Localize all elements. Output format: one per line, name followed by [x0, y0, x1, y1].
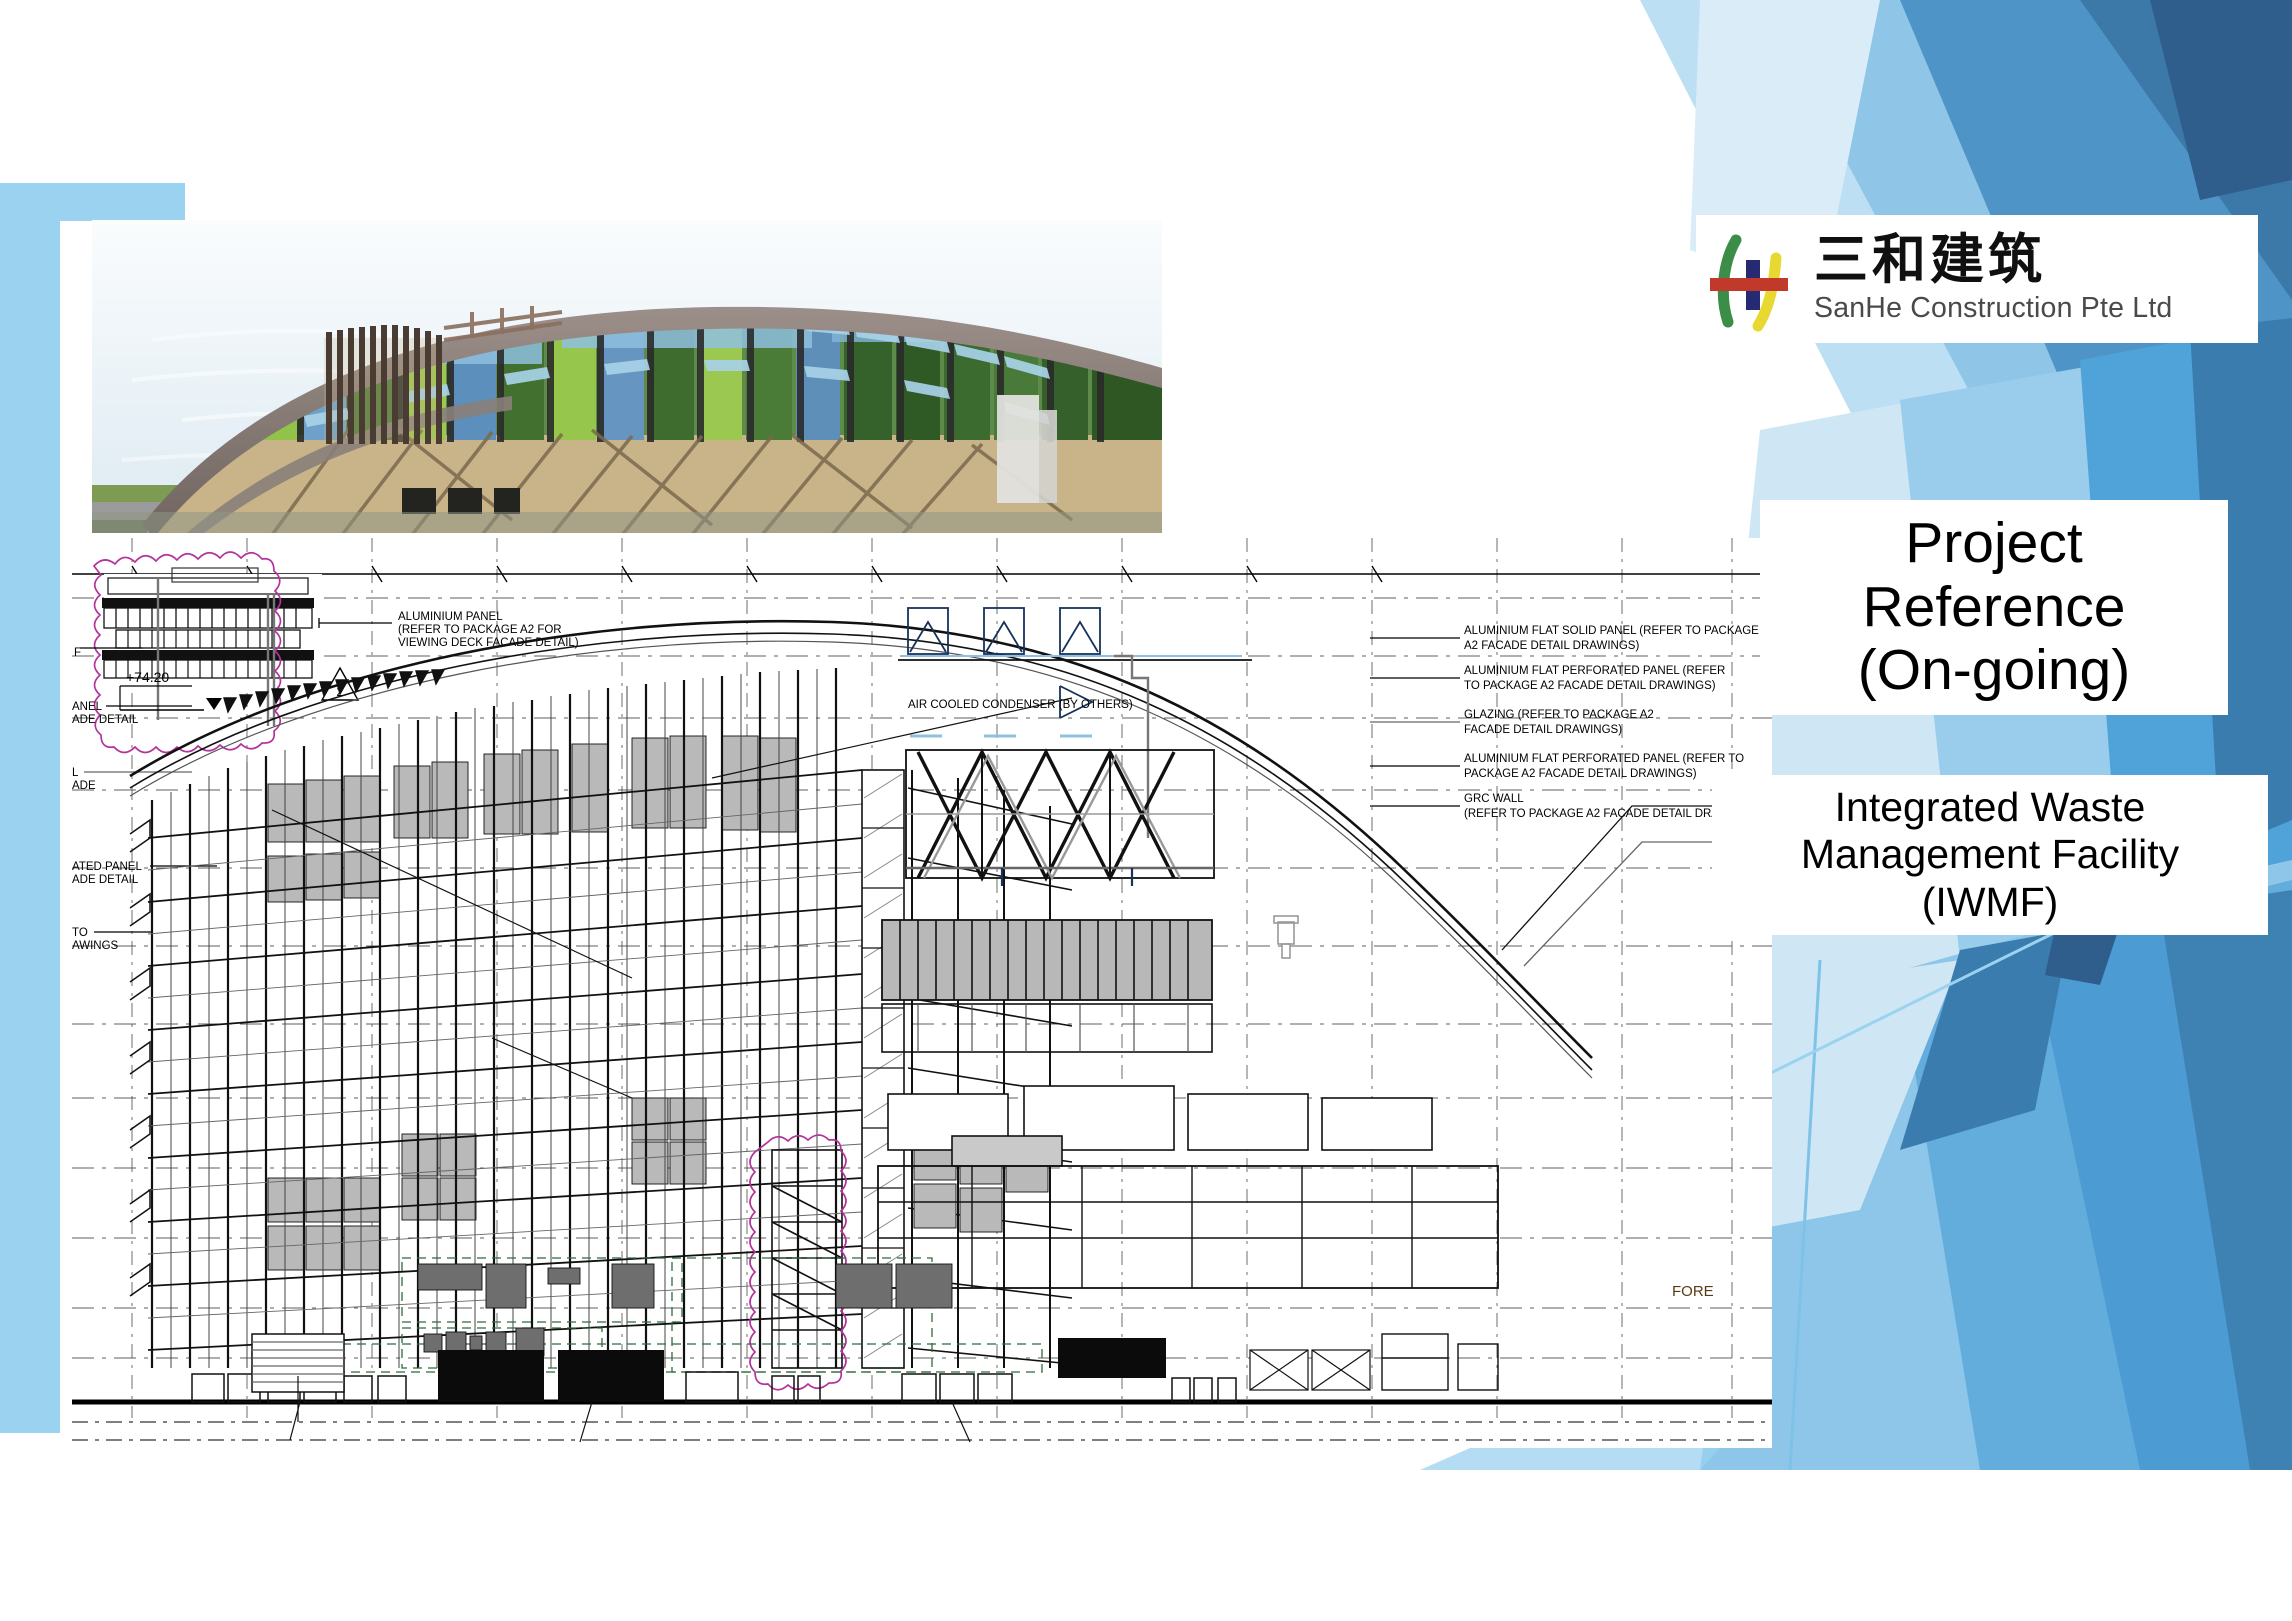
- facet-bottom-right-sliver: [1420, 1448, 1720, 1470]
- annotation-line: (REFER TO PACKAGE A2 FOR: [398, 624, 562, 636]
- svg-text:GRC WALL: GRC WALL: [1464, 793, 1524, 805]
- company-logo-card: 三和建筑 SanHe Construction Pte Ltd: [1696, 215, 2258, 343]
- svg-text:ALUMINIUM FLAT PERFORATED PAN: ALUMINIUM FLAT PERFORATED PANEL (REFER T…: [1464, 753, 1744, 765]
- facade-elevation-drawing: ALUMINIUM PANEL (REFER TO PACKAGE A2 FOR…: [72, 538, 1772, 1448]
- left-label-panel-2: ADE DETAIL: [72, 714, 139, 726]
- svg-text:A2 FACADE DETAIL DRAWINGS): A2 FACADE DETAIL DRAWINGS): [1464, 640, 1639, 652]
- left-label-to: TO: [72, 927, 88, 939]
- svg-text:ALUMINIUM FLAT SOLID PANEL (RE: ALUMINIUM FLAT SOLID PANEL (REFER TO PAC…: [1464, 625, 1759, 637]
- left-label-l-2: ADE: [72, 780, 96, 792]
- left-label-f: F: [74, 647, 81, 659]
- title-line-3: (On-going): [1858, 639, 2130, 703]
- annotation-clipped-fore: FORE: [1672, 1283, 1714, 1300]
- project-render-photo: [92, 220, 1162, 533]
- left-label-awings: AWINGS: [72, 940, 119, 952]
- sanhe-logo-icon: [1702, 224, 1810, 334]
- svg-text:ALUMINIUM FLAT PERFORATED PAN: ALUMINIUM FLAT PERFORATED PANEL (REFER: [1464, 665, 1725, 677]
- svg-text:FACADE DETAIL DRAWINGS): FACADE DETAIL DRAWINGS): [1464, 724, 1622, 736]
- left-label-ated-1: ATED PANEL: [72, 861, 142, 873]
- slide-title-card: Project Reference (On-going): [1760, 500, 2228, 715]
- left-label-ated-2: ADE DETAIL: [72, 874, 139, 886]
- left-label-l-1: L: [72, 767, 79, 779]
- svg-text:TO PACKAGE A2 FACADE DETAIL DR: TO PACKAGE A2 FACADE DETAIL DRAWINGS): [1464, 680, 1716, 692]
- logo-english-name: SanHe Construction Pte Ltd: [1814, 291, 2258, 327]
- facet-lower-right: [1700, 860, 2292, 1470]
- subtitle-line-2: Management Facility: [1801, 831, 2179, 879]
- annotation-acc-label: AIR COOLED CONDENSER (BY OTHERS): [908, 699, 1133, 711]
- subtitle-line-1: Integrated Waste: [1801, 784, 2179, 832]
- title-line-2: Reference: [1858, 576, 2130, 640]
- page-subtitle: Integrated Waste Management Facility (IW…: [1801, 784, 2179, 927]
- annotation-line: ALUMINIUM PANEL: [398, 611, 503, 623]
- presentation-slide: ALUMINIUM PANEL (REFER TO PACKAGE A2 FOR…: [0, 0, 2292, 1621]
- slide-subtitle-card: Integrated Waste Management Facility (IW…: [1712, 775, 2268, 935]
- left-label-panel-1: ANEL: [72, 701, 103, 713]
- svg-text:GLAZING (REFER TO PACKAGE A2: GLAZING (REFER TO PACKAGE A2: [1464, 709, 1654, 721]
- logo-chinese-name: 三和建筑: [1814, 232, 2258, 287]
- elevation-value: +74.20: [126, 669, 169, 685]
- subtitle-line-3: (IWMF): [1801, 879, 2179, 927]
- page-title: Project Reference (On-going): [1858, 512, 2130, 703]
- svg-text:PACKAGE A2 FACADE DETAIL DRAWI: PACKAGE A2 FACADE DETAIL DRAWINGS): [1464, 768, 1697, 780]
- title-line-1: Project: [1858, 512, 2130, 576]
- bracket-vertical-bar: [0, 183, 60, 1433]
